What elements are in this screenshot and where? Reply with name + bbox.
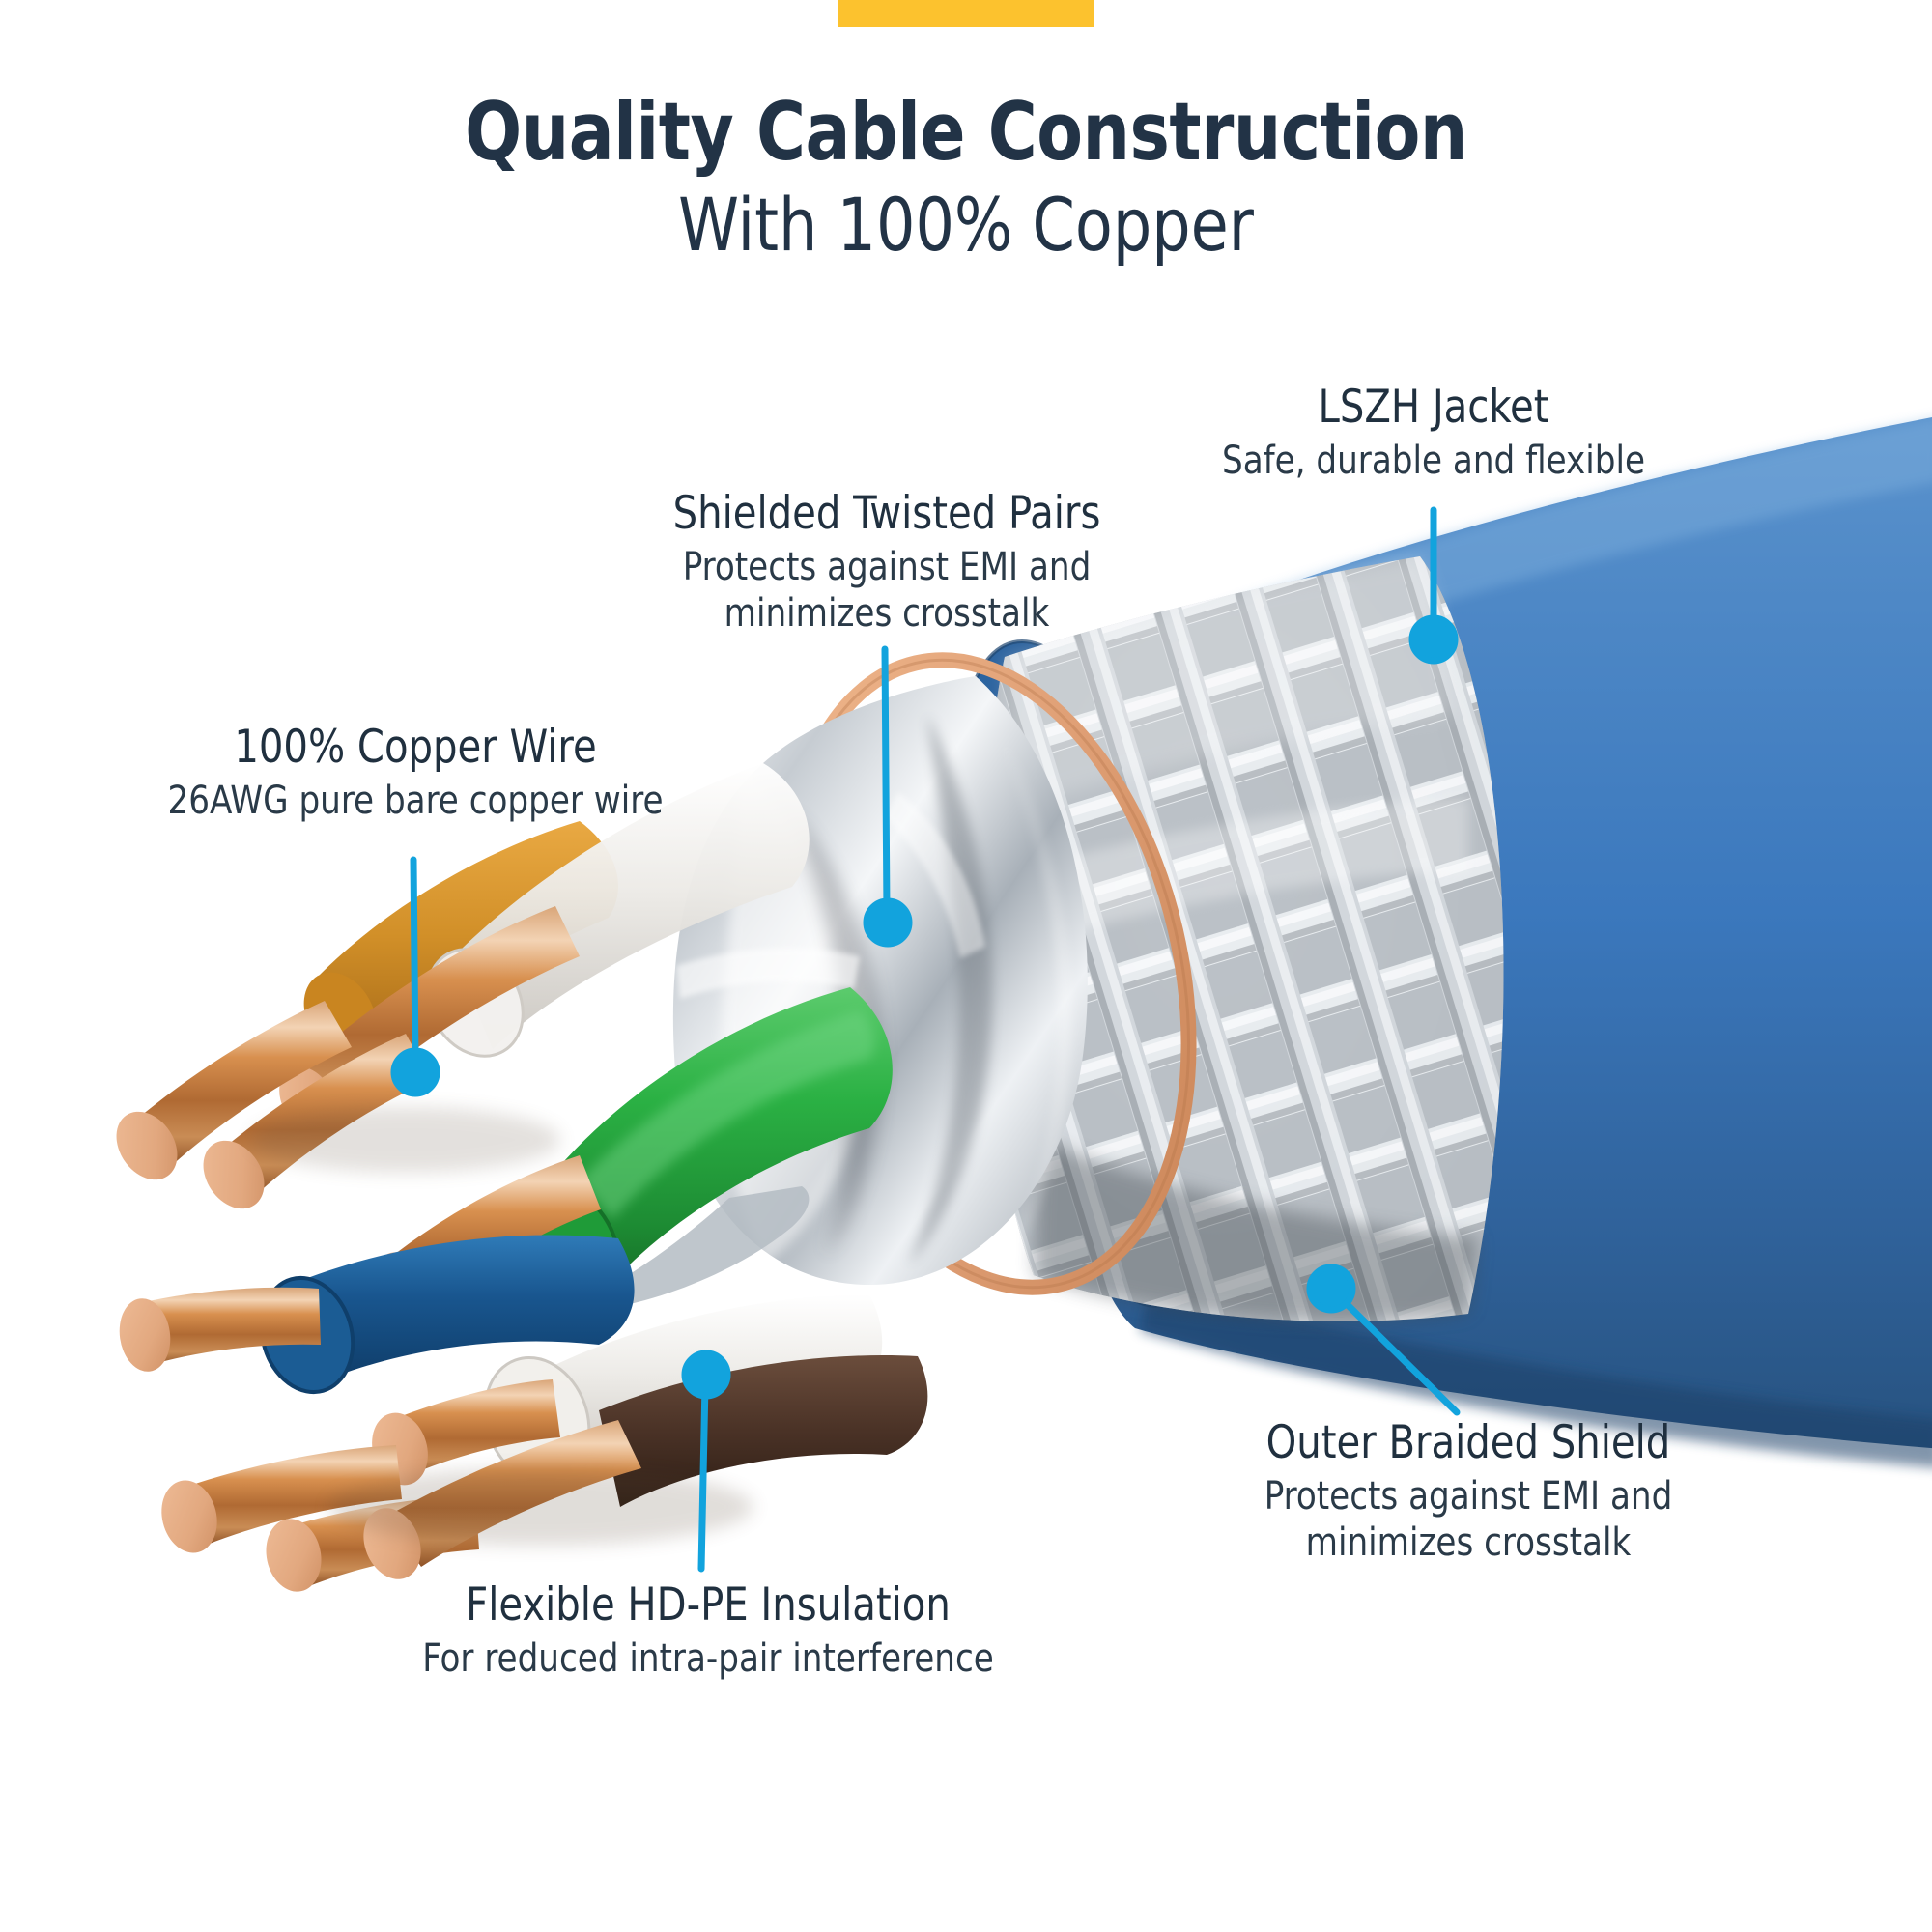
- page-subtitle: With 100% Copper: [68, 184, 1864, 266]
- callout-outer-braided-shield: Outer Braided Shield Protects against EM…: [1179, 1418, 1758, 1567]
- top-accent-bar: [838, 0, 1094, 27]
- callout-outer-braided-shield-subtitle-line2: minimizes crosstalk: [1193, 1520, 1744, 1567]
- callout-hd-pe-insulation-title: Flexible HD-PE Insulation: [391, 1580, 1025, 1632]
- callout-copper-wire-title: 100% Copper Wire: [140, 723, 691, 774]
- callout-shielded-twisted-pairs-subtitle-line2: minimizes crosstalk: [611, 590, 1162, 638]
- callout-hd-pe-insulation-subtitle: For reduced intra-pair interference: [391, 1635, 1025, 1683]
- callout-lszh-jacket: LSZH Jacket Safe, durable and flexible: [1144, 383, 1723, 484]
- callout-outer-braided-shield-title: Outer Braided Shield: [1193, 1418, 1744, 1469]
- callout-outer-braided-shield-subtitle-line1: Protects against EMI and: [1193, 1473, 1744, 1520]
- callout-lszh-jacket-subtitle: Safe, durable and flexible: [1158, 438, 1709, 485]
- callout-copper-wire-subtitle: 26AWG pure bare copper wire: [140, 778, 691, 825]
- callout-shielded-twisted-pairs-title: Shielded Twisted Pairs: [611, 489, 1162, 540]
- callout-lszh-jacket-title: LSZH Jacket: [1158, 383, 1709, 434]
- infographic-canvas: Quality Cable Construction With 100% Cop…: [0, 0, 1932, 1932]
- callout-shielded-twisted-pairs: Shielded Twisted Pairs Protects against …: [597, 489, 1177, 638]
- page-heading-block: Quality Cable Construction With 100% Cop…: [0, 92, 1932, 266]
- callout-hd-pe-insulation: Flexible HD-PE Insulation For reduced in…: [375, 1580, 1041, 1682]
- page-title: Quality Cable Construction: [68, 92, 1864, 174]
- callout-copper-wire: 100% Copper Wire 26AWG pure bare copper …: [126, 723, 705, 824]
- callout-shielded-twisted-pairs-subtitle-line1: Protects against EMI and: [611, 544, 1162, 591]
